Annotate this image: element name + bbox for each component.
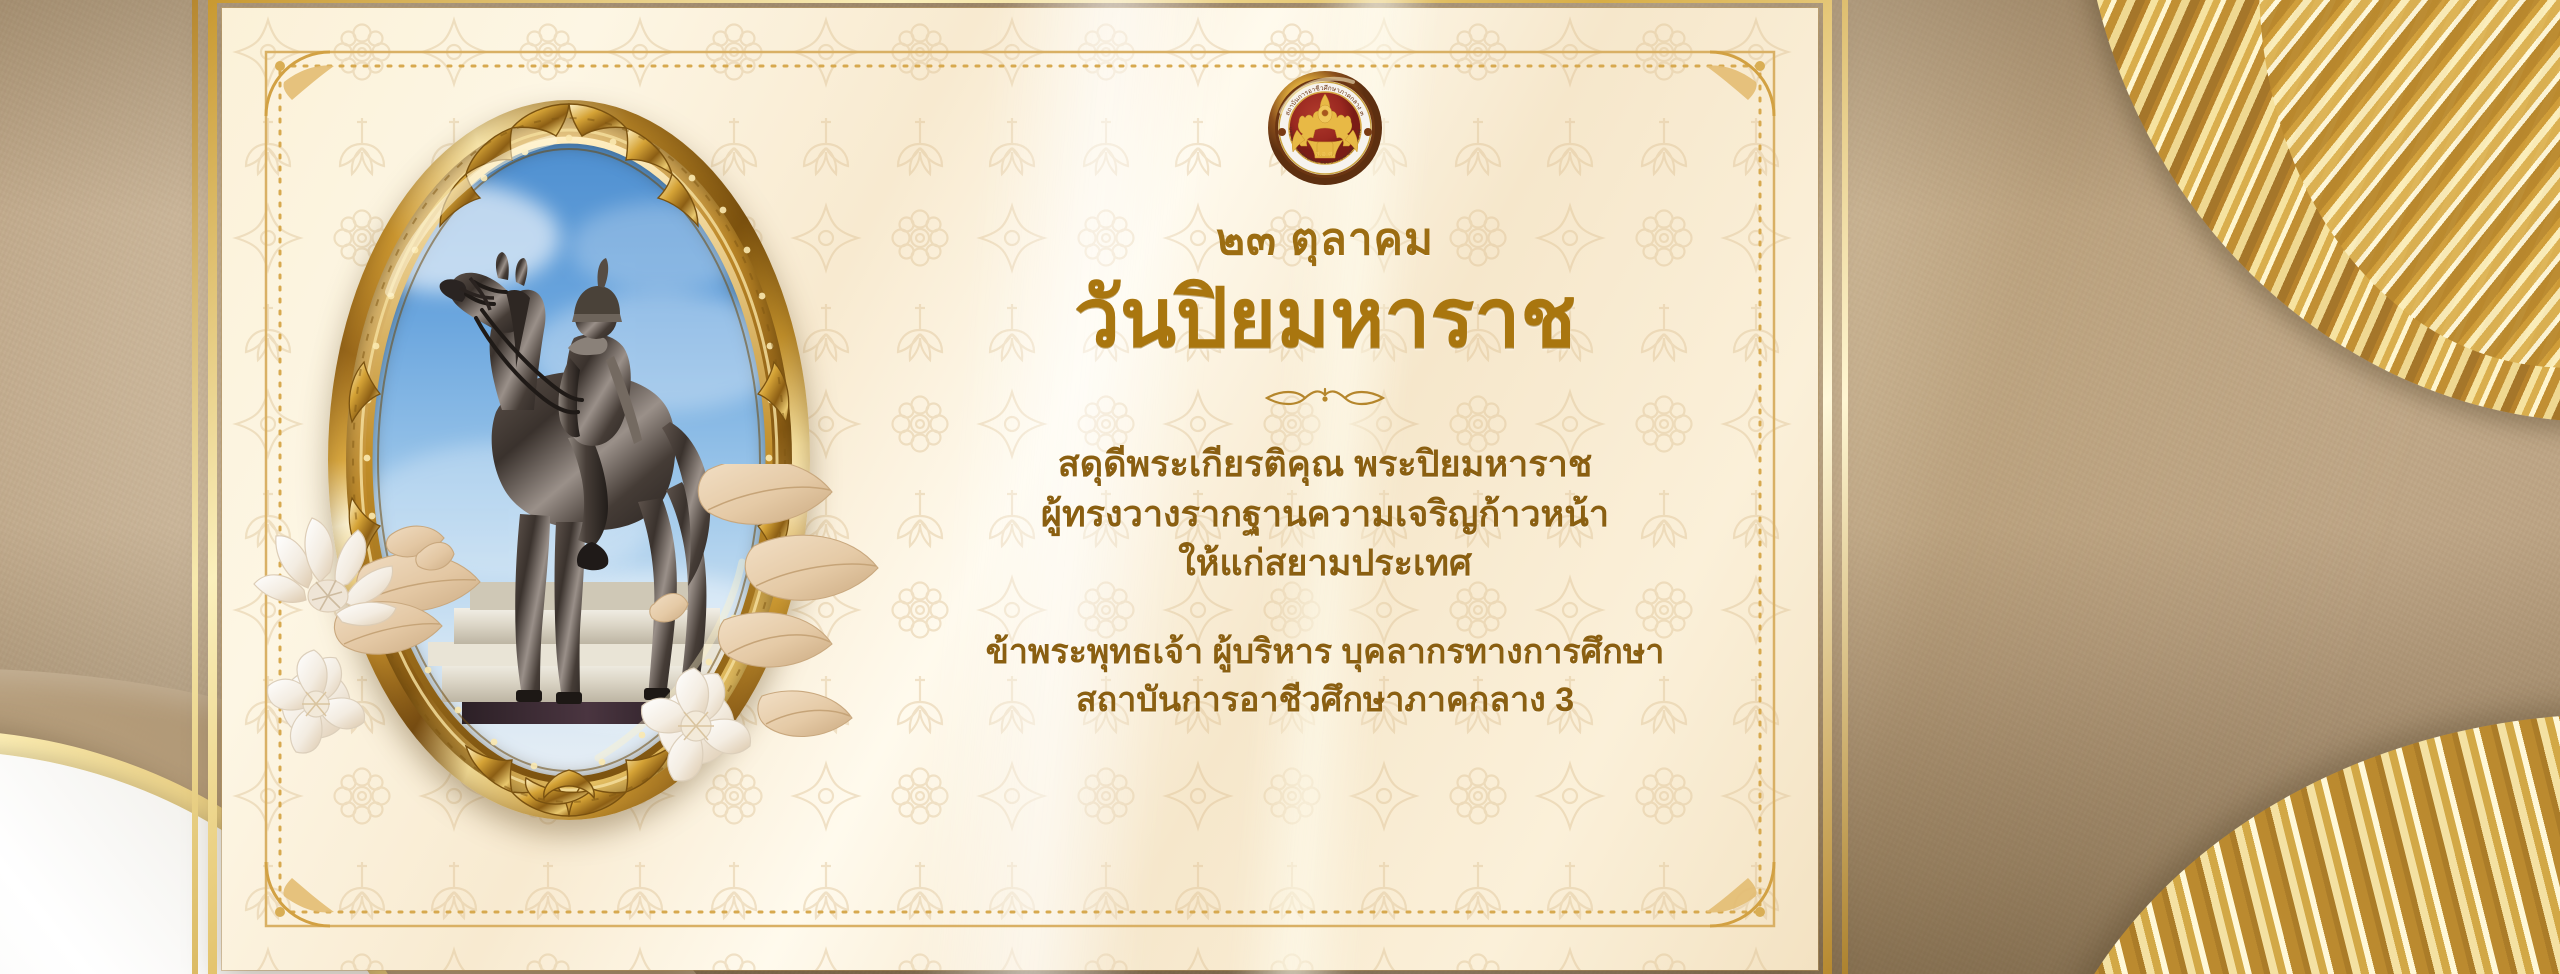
equestrian-statue-illustration — [370, 142, 768, 778]
signature-line-1: ข้าพระพุทธเจ้า ผู้บริหาร บุคลากรทางการศึ… — [872, 628, 1778, 676]
card-content: สถาบันการอาชีวศึกษาภาคกลาง ๓ INSTITUTE O… — [872, 58, 1778, 918]
signature-block: ข้าพระพุทธเจ้า ผู้บริหาร บุคลากรทางการศึ… — [872, 628, 1778, 725]
signature-line-2: สถาบันการอาชีวศึกษาภาคกลาง 3 — [872, 676, 1778, 724]
thai-date: ๒๓ ตุลาคม — [872, 204, 1778, 274]
tribute-paragraph: สดุดีพระเกียรติคุณ พระปิยมหาราช ผู้ทรงวา… — [872, 439, 1778, 588]
portrait-oval — [296, 64, 842, 900]
divider-ornament — [1005, 387, 1645, 409]
page-title: วันปิยมหาราช — [872, 276, 1778, 363]
statue-photograph — [370, 142, 768, 778]
emblem-abbrev: ส.อ.ศ. — [1315, 150, 1335, 158]
institute-seal-emblem: สถาบันการอาชีวศึกษาภาคกลาง ๓ INSTITUTE O… — [1267, 70, 1383, 186]
tribute-line-2: ผู้ทรงวางรากฐานความเจริญก้าวหน้า — [872, 489, 1778, 539]
greeting-card: สถาบันการอาชีวศึกษาภาคกลาง ๓ INSTITUTE O… — [222, 8, 1818, 970]
tribute-line-3: ให้แก่สยามประเทศ — [872, 538, 1778, 588]
tribute-line-1: สดุดีพระเกียรติคุณ พระปิยมหาราช — [872, 439, 1778, 489]
